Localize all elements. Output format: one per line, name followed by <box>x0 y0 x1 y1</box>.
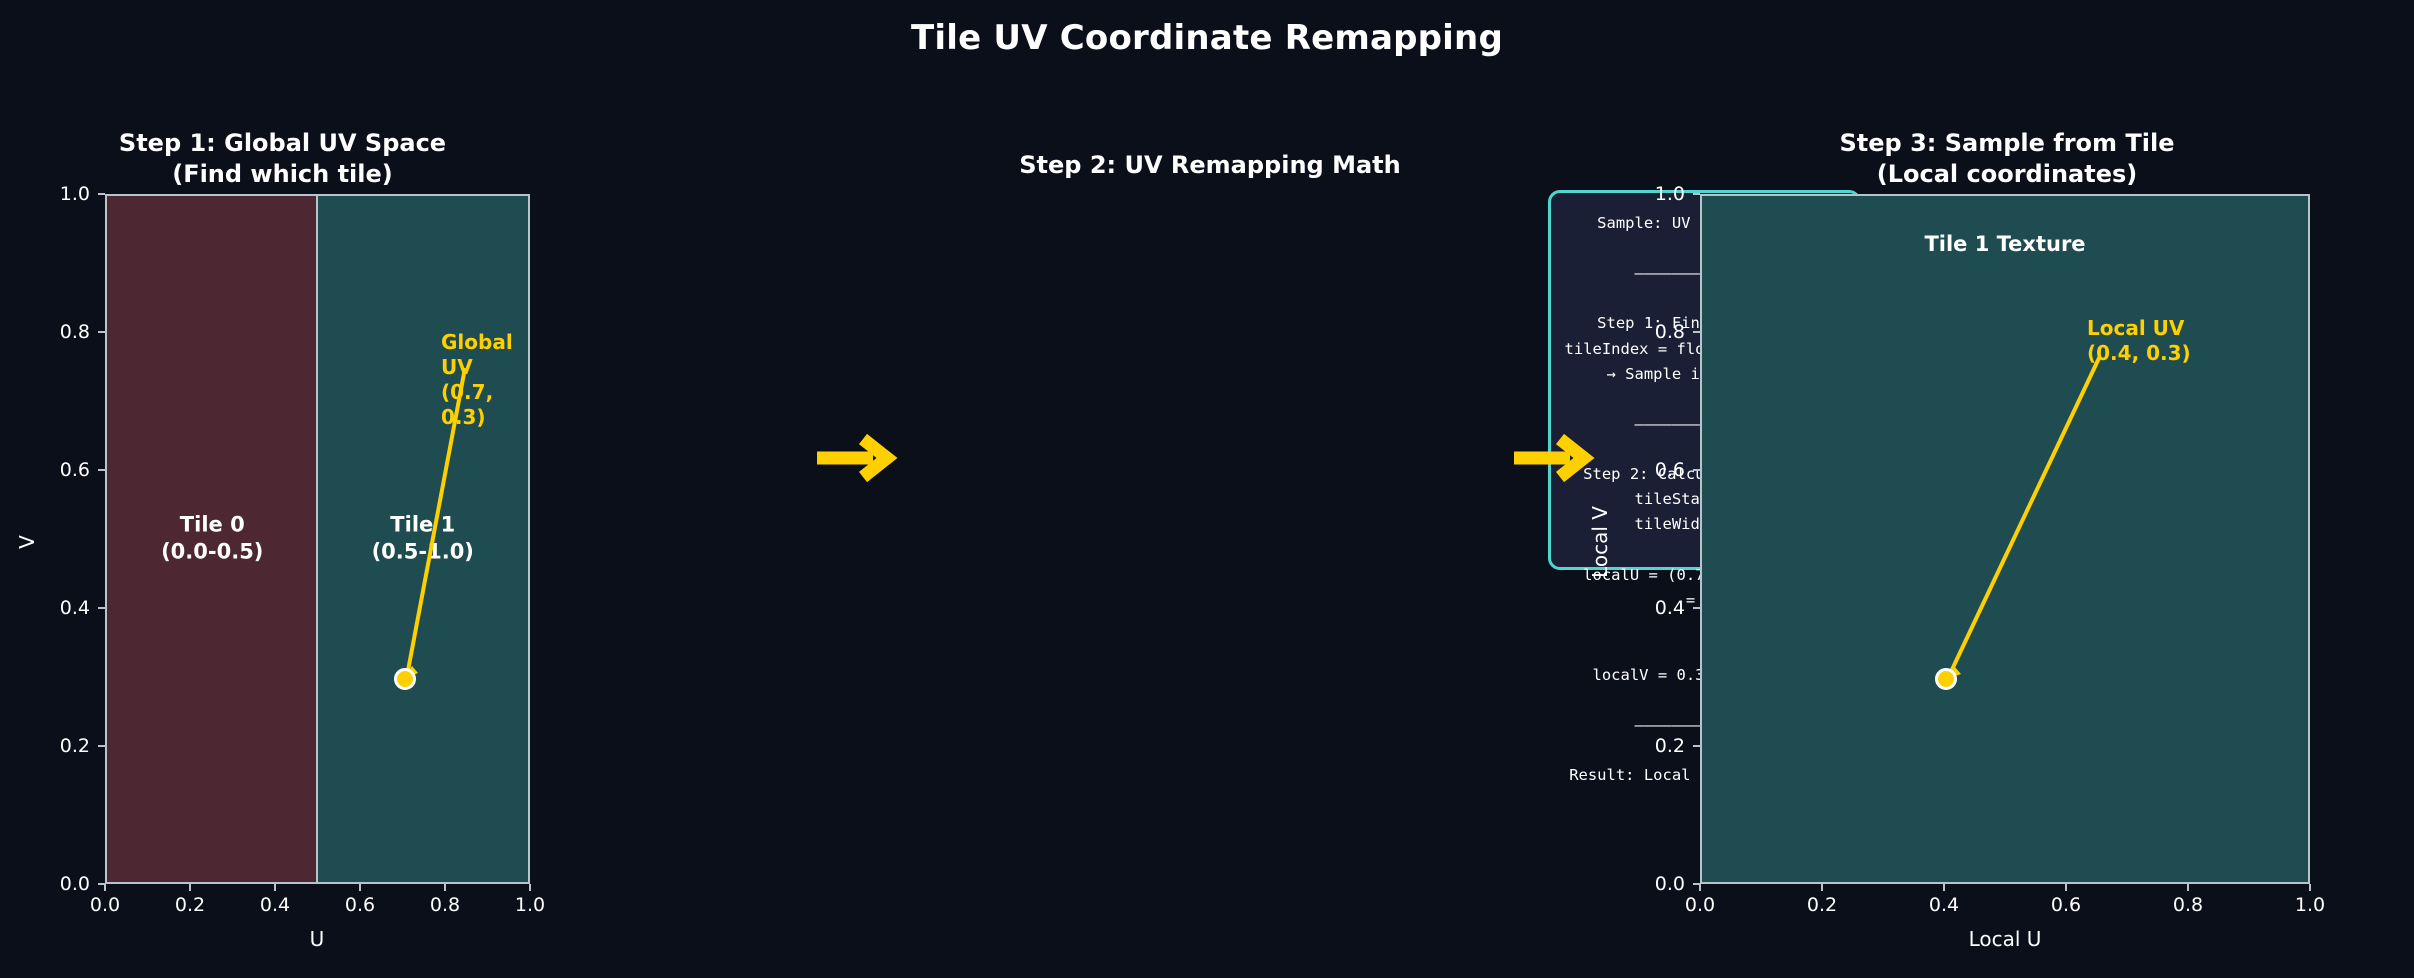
x-tick-label: 0.8 <box>2173 894 2203 916</box>
tile-texture-label: Tile 1 Texture <box>1702 232 2308 256</box>
x-tick-mark <box>2309 884 2311 891</box>
x-tick-label: 0.6 <box>2051 894 2081 916</box>
y-tick-mark <box>98 193 105 195</box>
y-tick-mark <box>1693 745 1700 747</box>
x-tick-mark <box>274 884 276 891</box>
global-uv-annotation-label: Global UV (0.7, 0.3) <box>441 330 528 430</box>
y-tick-label: 0.0 <box>1633 873 1685 895</box>
x-tick-label: 0.2 <box>175 894 205 916</box>
y-tick-mark <box>1693 883 1700 885</box>
local-uv-sample-dot[interactable] <box>1935 668 1957 690</box>
panel-step-1: Step 1: Global UV Space (Find which tile… <box>0 0 820 978</box>
y-tick-mark <box>98 745 105 747</box>
panel-step-2: Step 2: UV Remapping Math Sample: UV = (… <box>900 0 1520 978</box>
x-tick-label: 0.6 <box>345 894 375 916</box>
x-tick-label: 0.0 <box>1685 894 1715 916</box>
x-tick-mark <box>1943 884 1945 891</box>
y-axis-label: Local V <box>1588 487 1612 597</box>
panel-2-title: Step 2: UV Remapping Math <box>900 150 1520 181</box>
x-axis-label: Local U <box>1969 927 2042 951</box>
y-tick-label: 1.0 <box>1633 183 1685 205</box>
y-tick-mark <box>1693 331 1700 333</box>
x-tick-mark <box>104 884 106 891</box>
y-tick-mark <box>98 331 105 333</box>
local-uv-leader-line <box>1702 196 2312 886</box>
y-tick-label: 0.4 <box>38 597 90 619</box>
x-tick-mark <box>189 884 191 891</box>
y-tick-label: 0.4 <box>1633 597 1685 619</box>
x-tick-label: 0.4 <box>260 894 290 916</box>
y-tick-label: 0.8 <box>1633 321 1685 343</box>
local-uv-annotation-label: Local UV (0.4, 0.3) <box>2087 316 2191 366</box>
y-tick-label: 0.2 <box>38 735 90 757</box>
x-tick-label: 0.4 <box>1929 894 1959 916</box>
x-tick-mark <box>2187 884 2189 891</box>
y-tick-mark <box>98 883 105 885</box>
y-tick-mark <box>1693 469 1700 471</box>
arrow-step1-to-step2-icon <box>815 432 907 484</box>
panel-1-title: Step 1: Global UV Space (Find which tile… <box>0 128 565 189</box>
y-tick-mark <box>1693 607 1700 609</box>
y-tick-label: 0.6 <box>1633 459 1685 481</box>
y-tick-mark <box>98 469 105 471</box>
y-tick-label: 0.2 <box>1633 735 1685 757</box>
tile-1-label: Tile 1 (0.5-1.0) <box>372 512 474 567</box>
y-axis-label: V <box>15 507 39 577</box>
y-tick-label: 0.0 <box>38 873 90 895</box>
y-tick-label: 0.6 <box>38 459 90 481</box>
x-tick-label: 1.0 <box>2295 894 2325 916</box>
panel-3-title: Step 3: Sample from Tile (Local coordina… <box>1600 128 2414 189</box>
x-tick-mark <box>359 884 361 891</box>
x-tick-label: 0.8 <box>430 894 460 916</box>
x-axis-label: U <box>310 927 325 951</box>
tile-0-label: Tile 0 (0.0-0.5) <box>161 512 263 567</box>
tile-texture-plot[interactable]: Tile 1 Texture Local UV (0.4, 0.3) <box>1700 194 2310 884</box>
x-tick-mark <box>444 884 446 891</box>
x-tick-label: 1.0 <box>515 894 545 916</box>
x-tick-mark <box>529 884 531 891</box>
y-tick-label: 1.0 <box>38 183 90 205</box>
y-tick-label: 0.8 <box>38 321 90 343</box>
arrow-step2-to-step3-icon <box>1512 432 1604 484</box>
y-tick-mark <box>1693 193 1700 195</box>
global-uv-sample-dot[interactable] <box>394 668 416 690</box>
x-tick-mark <box>2065 884 2067 891</box>
x-tick-mark <box>1699 884 1701 891</box>
x-tick-label: 0.2 <box>1807 894 1837 916</box>
x-tick-mark <box>1821 884 1823 891</box>
x-tick-label: 0.0 <box>90 894 120 916</box>
y-tick-mark <box>98 607 105 609</box>
global-uv-plot: Tile 0 (0.0-0.5) Tile 1 (0.5-1.0) Global… <box>105 194 530 884</box>
